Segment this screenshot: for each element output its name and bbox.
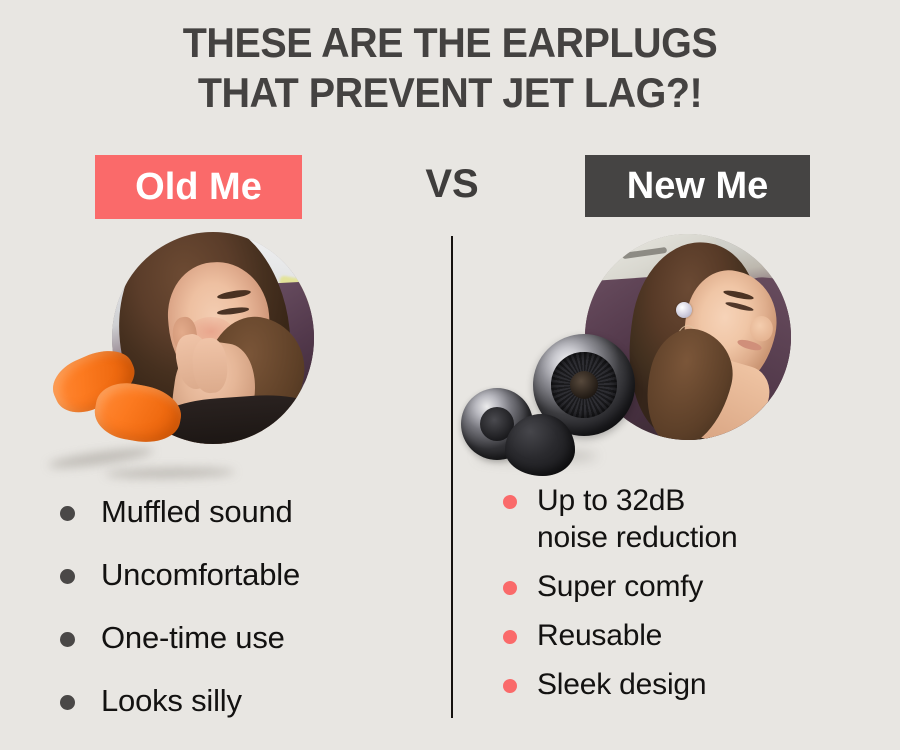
old-me-photo xyxy=(112,232,314,444)
list-item-label: Reusable xyxy=(537,617,662,654)
list-item: Sleek design xyxy=(503,666,883,703)
earplug-shadow-1 xyxy=(477,450,597,462)
bullet-dot-icon xyxy=(503,679,517,693)
list-item: Up to 32dB noise reduction xyxy=(503,482,883,556)
bullet-dot-icon xyxy=(60,632,75,647)
infographic-canvas: THESE ARE THE EARPLUGS THAT PREVENT JET … xyxy=(0,0,900,750)
bullet-dot-icon xyxy=(503,581,517,595)
bullet-dot-icon xyxy=(503,495,517,509)
earplug-shadow-1 xyxy=(48,445,155,472)
comparison-column-new: New Me xyxy=(453,0,900,750)
list-item-label: Up to 32dB noise reduction xyxy=(537,482,737,556)
list-item: Super comfy xyxy=(503,568,883,605)
list-item: Uncomfortable xyxy=(60,555,440,594)
new-me-badge: New Me xyxy=(585,155,810,217)
bullet-dot-icon xyxy=(60,569,75,584)
sleek-earplug-small xyxy=(461,388,533,460)
list-item: One-time use xyxy=(60,618,440,657)
list-item: Looks silly xyxy=(60,681,440,720)
list-item-label: Muffled sound xyxy=(101,492,293,531)
list-item-label: Super comfy xyxy=(537,568,703,605)
list-item-label: Uncomfortable xyxy=(101,555,300,594)
list-item: Reusable xyxy=(503,617,883,654)
earplug-shadow-2 xyxy=(105,467,235,479)
comparison-column-old: Old Me xyxy=(0,0,451,750)
new-me-photo-wrap xyxy=(585,234,791,440)
list-item-label: Sleek design xyxy=(537,666,706,703)
old-me-badge: Old Me xyxy=(95,155,302,219)
new-me-feature-list: Up to 32dB noise reduction Super comfy R… xyxy=(503,482,883,715)
new-me-badge-label: New Me xyxy=(627,167,768,205)
bullet-dot-icon xyxy=(60,506,75,521)
bullet-dot-icon xyxy=(60,695,75,710)
bullet-dot-icon xyxy=(503,630,517,644)
old-me-photo-wrap xyxy=(112,232,314,444)
list-item-label: Looks silly xyxy=(101,681,242,720)
new-me-photo xyxy=(585,234,791,440)
list-item: Muffled sound xyxy=(60,492,440,531)
old-me-feature-list: Muffled sound Uncomfortable One-time use… xyxy=(60,492,440,744)
old-me-badge-label: Old Me xyxy=(135,168,262,206)
list-item-label: One-time use xyxy=(101,618,285,657)
sleek-earplug-tip xyxy=(505,414,575,476)
